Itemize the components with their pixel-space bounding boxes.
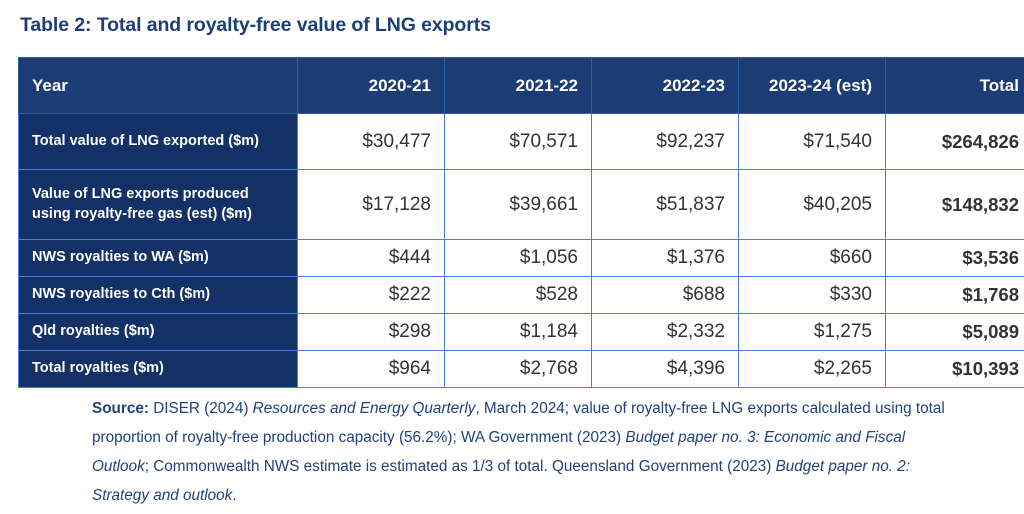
cell-value: $330 xyxy=(739,277,886,314)
cell-value: $70,571 xyxy=(445,114,592,170)
table-row: NWS royalties to WA ($m) $444 $1,056 $1,… xyxy=(19,240,1024,277)
page-title: Table 2: Total and royalty-free value of… xyxy=(20,14,491,37)
source-italic-title-1: Resources and Energy Quarterly xyxy=(253,400,476,417)
table-row: Value of LNG exports produced using roya… xyxy=(19,170,1024,240)
cell-value: $964 xyxy=(298,351,445,388)
row-label: Value of LNG exports produced using roya… xyxy=(19,170,298,240)
cell-value: $30,477 xyxy=(298,114,445,170)
cell-value: $2,332 xyxy=(592,314,739,351)
cell-value: $71,540 xyxy=(739,114,886,170)
row-label: NWS royalties to Cth ($m) xyxy=(19,277,298,314)
column-header-2021-22: 2021-22 xyxy=(445,58,592,114)
cell-value: $40,205 xyxy=(739,170,886,240)
cell-value: $17,128 xyxy=(298,170,445,240)
column-header-2022-23: 2022-23 xyxy=(592,58,739,114)
column-header-total: Total xyxy=(886,58,1024,114)
cell-value: $4,396 xyxy=(592,351,739,388)
cell-value: $688 xyxy=(592,277,739,314)
cell-value: $2,768 xyxy=(445,351,592,388)
cell-value: $298 xyxy=(298,314,445,351)
table-container: Year 2020-21 2021-22 2022-23 2023-24 (es… xyxy=(18,57,986,388)
source-label: Source: xyxy=(92,400,149,417)
lng-exports-table: Year 2020-21 2021-22 2022-23 2023-24 (es… xyxy=(18,57,1024,388)
header-row: Year 2020-21 2021-22 2022-23 2023-24 (es… xyxy=(19,58,1024,114)
column-header-2023-24-est: 2023-24 (est) xyxy=(739,58,886,114)
cell-total: $5,089 xyxy=(886,314,1024,351)
table-figure: Table 2: Total and royalty-free value of… xyxy=(0,0,1024,514)
cell-value: $222 xyxy=(298,277,445,314)
cell-value: $92,237 xyxy=(592,114,739,170)
source-note: Source: DISER (2024) Resources and Energ… xyxy=(92,394,952,510)
cell-value: $1,275 xyxy=(739,314,886,351)
cell-total: $10,393 xyxy=(886,351,1024,388)
cell-value: $39,661 xyxy=(445,170,592,240)
cell-value: $1,376 xyxy=(592,240,739,277)
cell-value: $528 xyxy=(445,277,592,314)
cell-total: $1,768 xyxy=(886,277,1024,314)
cell-value: $1,184 xyxy=(445,314,592,351)
table-row: NWS royalties to Cth ($m) $222 $528 $688… xyxy=(19,277,1024,314)
cell-value: $660 xyxy=(739,240,886,277)
cell-value: $51,837 xyxy=(592,170,739,240)
source-segment-1: DISER (2024) xyxy=(149,400,253,417)
cell-value: $1,056 xyxy=(445,240,592,277)
table-head: Year 2020-21 2021-22 2022-23 2023-24 (es… xyxy=(19,58,1024,114)
cell-value: $444 xyxy=(298,240,445,277)
source-segment-3: ; Commonwealth NWS estimate is estimated… xyxy=(145,458,776,475)
row-label: NWS royalties to WA ($m) xyxy=(19,240,298,277)
row-label: Total royalties ($m) xyxy=(19,351,298,388)
table-row: Total value of LNG exported ($m) $30,477… xyxy=(19,114,1024,170)
source-segment-4: . xyxy=(232,487,236,504)
cell-total: $264,826 xyxy=(886,114,1024,170)
column-header-2020-21: 2020-21 xyxy=(298,58,445,114)
table-row: Total royalties ($m) $964 $2,768 $4,396 … xyxy=(19,351,1024,388)
table-row: Qld royalties ($m) $298 $1,184 $2,332 $1… xyxy=(19,314,1024,351)
cell-total: $148,832 xyxy=(886,170,1024,240)
row-label: Total value of LNG exported ($m) xyxy=(19,114,298,170)
row-label: Qld royalties ($m) xyxy=(19,314,298,351)
table-body: Total value of LNG exported ($m) $30,477… xyxy=(19,114,1024,388)
cell-total: $3,536 xyxy=(886,240,1024,277)
cell-value: $2,265 xyxy=(739,351,886,388)
column-header-year: Year xyxy=(19,58,298,114)
